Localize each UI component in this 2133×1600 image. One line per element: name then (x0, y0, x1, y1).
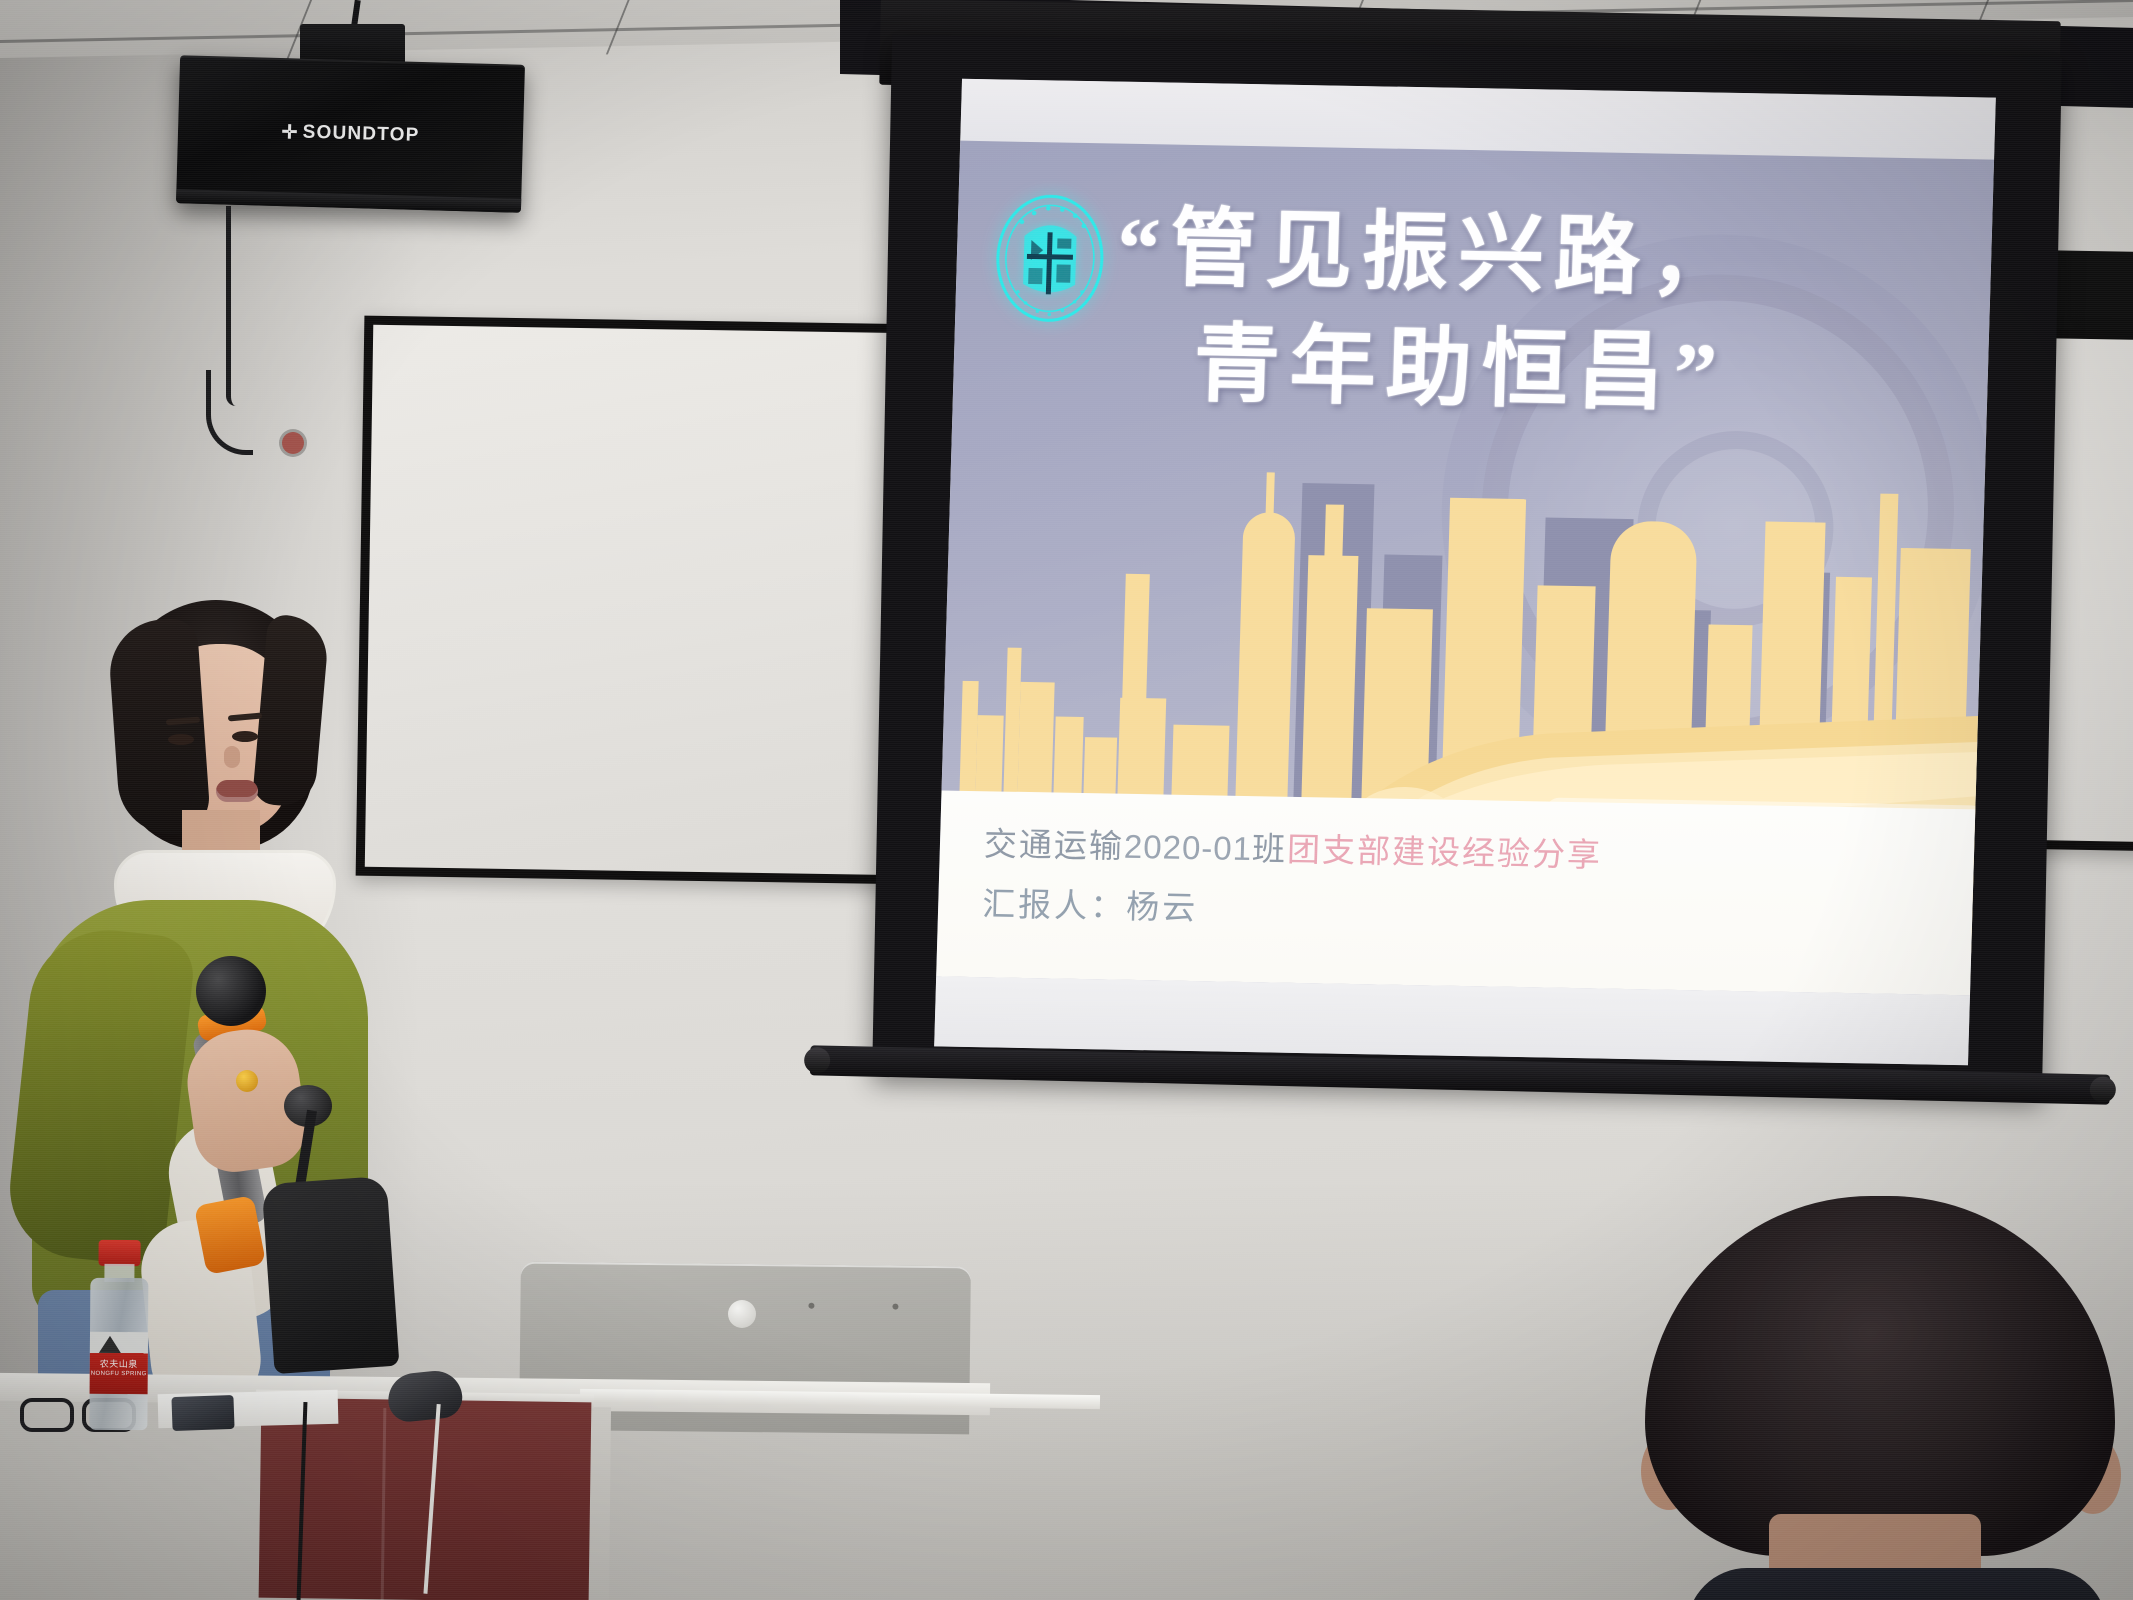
projection-screen-surface: “管见振兴路， 青年助恒昌” (934, 79, 1996, 1066)
slide-title-block: “管见振兴路， 青年助恒昌” (1112, 196, 1978, 431)
audience-member (1645, 1196, 2115, 1600)
soundtop-cross-icon: ✛ (281, 121, 299, 144)
presenter-nose (224, 746, 240, 768)
slide-subtitle-line-2: 汇报人：杨云 (982, 877, 1199, 929)
slide-title-line-2: 青年助恒昌” (1192, 312, 1975, 431)
presenter-badge-pin (236, 1070, 258, 1092)
subtitle-class-code: 2020-01 (1123, 828, 1252, 867)
presenter-hair-left (107, 617, 212, 838)
presentation-slide: “管见振兴路， 青年助恒昌” (936, 141, 1994, 996)
water-bottle: 农夫山泉 NONGFU SPRING (87, 1240, 150, 1430)
slide-title-line-1: 管见振兴路， (1169, 201, 1748, 308)
audience-hair (1645, 1196, 2115, 1556)
subtitle-class-word: 班 (1252, 832, 1288, 869)
wall-outlet-indicator (282, 432, 304, 454)
presenter-mouth (216, 780, 258, 802)
audience-shoulders (1687, 1568, 2107, 1600)
bottle-label: 农夫山泉 NONGFU SPRING (90, 1332, 148, 1394)
slide-title-open-quote: “ (1116, 200, 1172, 297)
microphone-base (194, 1195, 266, 1275)
bottle-cap (98, 1240, 140, 1266)
bottle-brand-cn: 农夫山泉 (90, 1357, 148, 1370)
office-chair-back (262, 1176, 400, 1374)
university-seal-icon (989, 187, 1111, 329)
whiteboard-left (356, 316, 925, 885)
speaker-brand-label: ✛SOUNDTOP (178, 117, 524, 150)
soundtop-speaker: ✛SOUNDTOP (176, 55, 525, 213)
subtitle-department: 交通运输 (983, 827, 1124, 866)
bottle-brand-en: NONGFU SPRING (90, 1371, 148, 1377)
mountain-triangle-icon (99, 1336, 121, 1353)
speaker-brand-text: SOUNDTOP (302, 122, 419, 146)
small-black-object (171, 1395, 234, 1431)
classroom-photo-scene: ✛SOUNDTOP (0, 0, 2133, 1600)
laptop-camera-icon (728, 1300, 756, 1328)
subtitle-highlight: 团支部建设经验分享 (1286, 833, 1602, 875)
mouse-cable (423, 1404, 500, 1598)
